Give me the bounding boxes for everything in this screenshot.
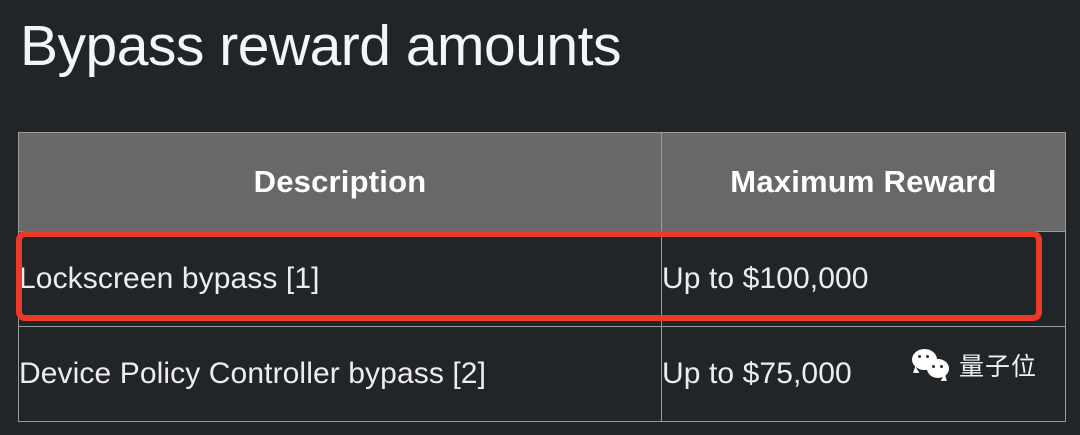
column-header-description: Description	[19, 133, 662, 232]
table-row: Lockscreen bypass [1] Up to $100,000	[19, 232, 1066, 327]
cell-reward-lockscreen-bypass: Up to $100,000	[662, 232, 1066, 327]
column-header-maximum-reward: Maximum Reward	[662, 133, 1066, 232]
bypass-reward-table: Description Maximum Reward Lockscreen by…	[18, 132, 1066, 422]
cell-description-lockscreen-bypass: Lockscreen bypass [1]	[19, 232, 662, 327]
page-title: Bypass reward amounts	[20, 8, 621, 84]
table-row: Device Policy Controller bypass [2] Up t…	[19, 327, 1066, 422]
cell-description-device-policy-controller-bypass: Device Policy Controller bypass [2]	[19, 327, 662, 422]
cell-reward-device-policy-controller-bypass: Up to $75,000	[662, 327, 1066, 422]
table-header-row: Description Maximum Reward	[19, 133, 1066, 232]
